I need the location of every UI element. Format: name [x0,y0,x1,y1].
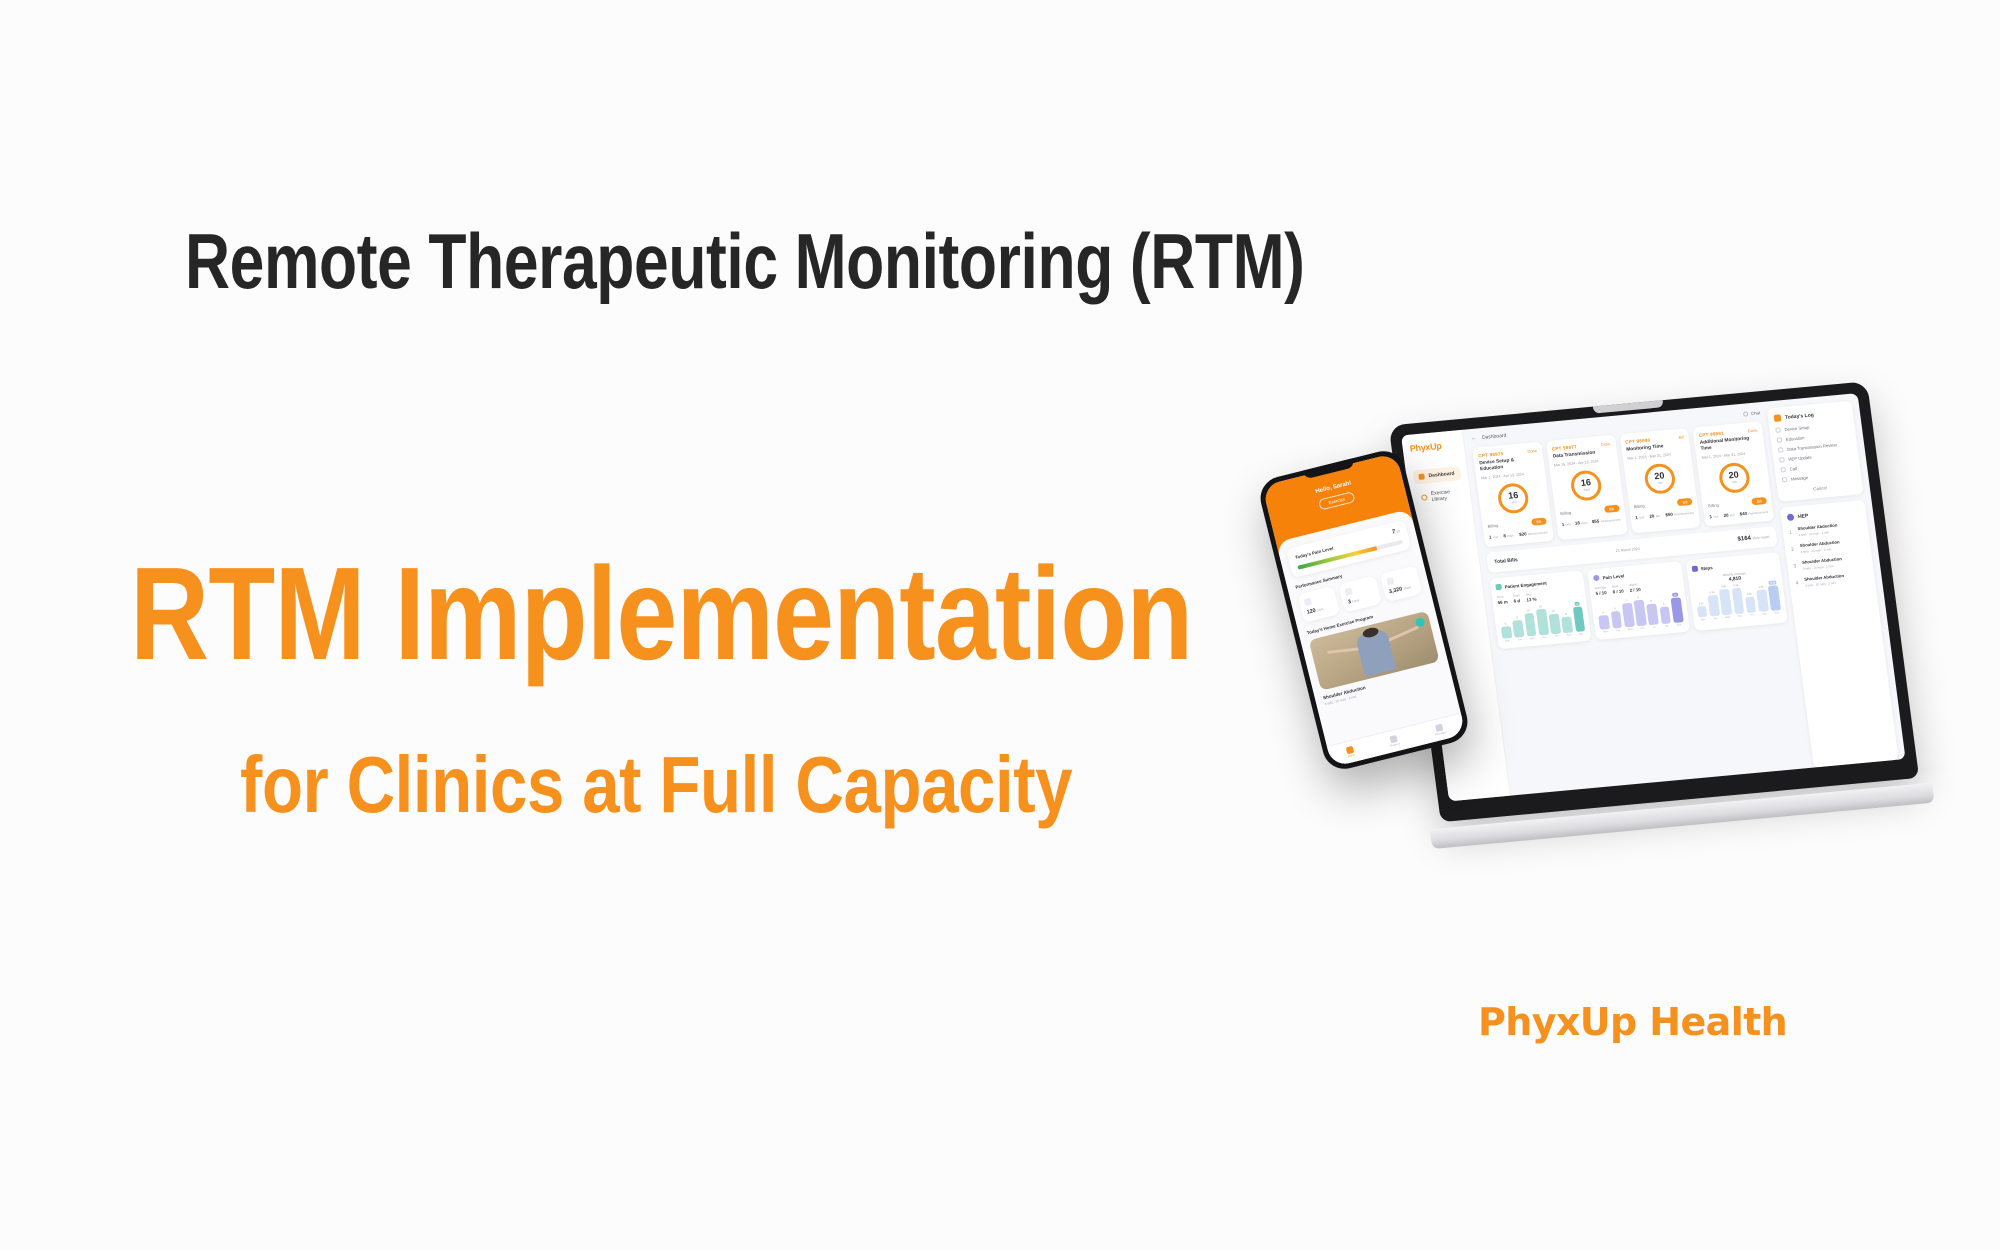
chart-bar-label: Tue [1616,629,1620,632]
hep-row-meta: 3 sets · 10 reps · 2 min [1800,547,1831,554]
chart-bar-label: Mon [1505,639,1510,642]
chart-bar-value: 8 [1504,623,1506,626]
hep-row[interactable]: 2 Shoulder Abduction 3 sets · 10 reps · … [1791,537,1865,556]
cpt-stat-label: Days [1507,534,1514,539]
hep-row[interactable]: 1 Shoulder Abduction 3 sets · 10 reps · … [1788,520,1862,539]
cpt-stat: $20 Reimbursement [1519,529,1548,538]
laptop-lid: PhyxUp Dashboard Exercise Library [1389,381,1920,822]
chart-bar-label: Wed [1627,628,1632,631]
hep-row-body: Shoulder Abduction 3 sets · 10 reps · 2 … [1804,571,1869,589]
cancel-button[interactable]: Cancel [1783,483,1856,495]
tab-label: Progress [1390,743,1401,748]
chart-bar-value: 7 [1625,599,1627,602]
laptop-mockup: PhyxUp Dashboard Exercise Library [1389,381,1920,822]
location-icon [1421,494,1428,501]
chart-bar-value: 6 [1650,600,1652,603]
chart-bar-label: Sat [1567,634,1571,637]
cpt-stat-label: Min [1655,514,1660,518]
cpt-stat-value: $40 [1739,511,1747,517]
chart-bar-value: 4.3k [1709,591,1714,594]
chart-stat-value: 8 / 10 [1612,589,1624,595]
cpt-stat-value: 1 [1489,535,1492,540]
sidebar-item-label: Exercise Library [1431,488,1459,502]
chart-bars: 2.1kMon4.3kTue5.6kWed5.9kThu3.2kFri4.4kS… [1694,580,1781,621]
chart-bar [1501,626,1512,638]
cpt-stat-value: 20 [1723,513,1729,518]
performance-metric-number: 3,320 [1388,586,1403,595]
chart-bar-label: Sun [1774,611,1779,614]
hep-row-body: Shoulder Abduction 3 sets · 10 reps · 2 … [1799,537,1864,555]
chart-bar [1707,595,1719,617]
cpt-stat: 16 Days [1575,520,1588,527]
chart-bar [1659,606,1671,624]
log-item-label: Education [1786,435,1805,442]
cpt-code: CPT 98980 [1625,437,1651,444]
chart-bar-label: Sun [1677,623,1682,626]
chart-stat: Time 56 m [1497,593,1509,606]
chart-bar [1768,585,1781,610]
chart-bar-value: 16 [1527,609,1530,612]
chart-bar-badge: 6.5k [1768,580,1776,585]
hep-row-name: Shoulder Abduction [1797,523,1837,532]
todays-log-header: Today's Log [1774,408,1848,422]
chart-stat-value: 2 / 10 [1629,587,1641,593]
log-item-label: Message [1791,475,1809,482]
checkbox-icon[interactable] [1780,467,1786,472]
cpt-stats: 1 Unit 8 Days $20 [1489,529,1548,540]
chart-stat-label: Best [1612,584,1619,589]
cpt-code: CPT 98981 [1699,431,1725,438]
cpt-bill-label: Billing [1487,523,1498,529]
cpt-stat: 8 Days [1503,533,1514,540]
chart-bar-column: 6.5kSun [1768,580,1782,615]
chart-bar-label: Tue [1518,638,1522,641]
chart-bar-label: Mon [1701,618,1706,621]
chart-bar-column: 21Sun [1572,602,1586,637]
hep-row-meta: 3 sets · 10 reps · 2 min [1805,581,1836,588]
cpt-stat-value: 16 [1575,520,1581,525]
chart-bar-badge: 21 [1574,602,1580,607]
engagement-icon [1495,584,1502,591]
checkbox-icon[interactable] [1775,427,1781,432]
cpt-bill-label: Billing [1708,502,1719,508]
device-mockup-group: PhyxUp Dashboard Exercise Library [1290,400,1990,940]
chart-bar-label: Fri [1555,635,1558,638]
log-icon [1774,414,1782,422]
chart-bar-value: 4.4k [1758,586,1763,589]
cpt-gauge-unit: days [1583,488,1590,493]
log-item-label: Data Transmission Review [1787,442,1837,452]
back-arrow-icon[interactable]: ← [1471,436,1478,443]
grid-icon [1418,473,1425,480]
steps-icon [1386,577,1394,585]
sidebar-item-exercise-library[interactable]: Exercise Library [1415,484,1464,508]
chart-stat-value: 6 d [1513,598,1520,604]
cpt-stat: $50 Reimbursement [1665,510,1694,519]
chart-card-steps: Steps Weekly Average 4,810 2.1kMon4.3kTu… [1685,552,1787,631]
cpt-card[interactable]: CPT 98975 Done Device Setup & Education … [1472,442,1554,548]
hep-panel-title: HEP [1798,513,1809,520]
pain-icon [1593,575,1600,582]
pain-level-value: 7/10 [1392,528,1401,536]
hep-row-index: 2 [1791,546,1797,552]
video-arm-left [1327,647,1360,653]
cpt-card[interactable]: CPT 98980 Bill Monitoring Time Mar 1, 20… [1619,428,1701,534]
chat-label: Chat [1750,410,1760,416]
page-title: RTM Implementation [130,548,1192,680]
chart-bar-value: 5.6k [1721,585,1726,588]
chart-title: Pain Level [1602,573,1624,580]
chart-stat: Best 8 / 10 [1612,583,1625,596]
chart-bar-label: Thu [1542,636,1547,639]
chat-button[interactable]: Chat [1743,410,1761,417]
chart-title: Steps [1700,565,1713,571]
chat-icon [1743,411,1749,416]
hep-row-body: Shoulder Abduction 3 sets · 10 reps · 2 … [1802,554,1867,572]
chart-bar [1697,606,1708,617]
chart-bar-value: 5.9k [1733,584,1738,587]
cpt-stat: 1 Unit [1489,534,1499,541]
cpt-stat-label: Reimbursement [1528,530,1548,536]
chart-bar-value: 9 [1637,596,1639,599]
chart-bar [1512,620,1524,638]
performance-metric-value: 120 mins [1306,603,1334,615]
tab-label: Home [1348,754,1355,759]
cpt-bill-row: Billing Bill [1633,498,1692,511]
cpt-code: CPT 98977 [1552,444,1578,451]
steps-icon [1691,566,1698,573]
chart-bar-column: 10Sun [1670,592,1684,627]
performance-metric-unit: mins [1317,607,1324,612]
topbar-actions: Chat [1743,410,1761,417]
cpt-stats: 1 Unit 16 Days $55 [1561,517,1620,528]
cpt-stat-label: Unit [1639,516,1644,520]
chart-bar-label: Sun [1579,633,1584,636]
cpt-stat-label: Min [1730,513,1735,517]
chart-bar-value: 5 [1614,607,1616,610]
sidebar-logo: PhyxUp [1409,439,1457,453]
checkbox-icon[interactable] [1777,437,1783,442]
cpt-bill-button[interactable]: Bill [1751,497,1767,505]
pain-level-scale: /10 [1395,529,1400,534]
chart-bar [1536,609,1549,635]
cpt-gauge: 20 min [1717,462,1751,495]
chart-bar-label: Tue [1713,617,1717,620]
cpt-stat-label: Unit [1493,535,1498,539]
todays-log-title: Today's Log [1785,412,1815,421]
chart-stat-label: Days [1513,593,1520,598]
chart-bar-label: Thu [1640,627,1645,630]
chart-stat-label: Worst [1629,582,1637,587]
cpt-stat: 1 Unit [1635,515,1645,522]
page-kicker: Remote Therapeutic Monitoring (RTM) [185,222,1305,300]
chart-card-patient-engagement: Patient Engagement Time 56 m Days [1490,570,1592,649]
tab-home[interactable]: Home [1346,746,1356,759]
tab-progress[interactable]: Progress [1388,734,1401,748]
chart-bar-label: Wed [1725,616,1730,619]
chart-bar-label: Thu [1738,615,1743,618]
chart-bar [1622,603,1635,627]
cpt-stat: $40 Reimbursement [1739,509,1768,518]
sidebar-item-dashboard[interactable]: Dashboard [1413,466,1462,484]
cpt-bill-label: Billing [1634,503,1645,509]
chart-bar-value: 14 [1552,610,1555,613]
performance-metric-unit: Steps [1403,585,1411,591]
hep-row-index: 1 [1789,530,1795,536]
log-item-label: Device Setup [1784,425,1809,432]
cpt-stat-value: $55 [1592,519,1600,525]
hep-row-name: Shoulder Abduction [1804,573,1844,582]
chart-bar [1745,597,1757,613]
performance-metric: 3,320 Steps [1379,565,1422,602]
hep-panel-header: HEP [1787,507,1861,521]
total-bills-note[interactable]: View report [1752,535,1770,541]
hep-row-name: Shoulder Abduction [1802,556,1842,565]
cpt-gauge-unit: min [1732,480,1737,484]
dashboard-app: PhyxUp Dashboard Exercise Library [1401,393,1906,801]
chart-bar-label: Fri [1751,614,1754,617]
cpt-stat-value: 1 [1709,514,1712,519]
cpt-stat-value: 1 [1561,522,1564,527]
slide-root: Remote Therapeutic Monitoring (RTM) RTM … [0,0,2000,1250]
cpt-card-row: CPT 98975 Done Device Setup & Education … [1472,421,1774,547]
performance-metric-number: 120 [1306,608,1316,616]
chart-bar-label: Mon [1603,630,1608,633]
cpt-stat: $55 Reimbursement [1592,517,1621,526]
chart-bar [1610,611,1622,629]
hep-row-meta: 3 sets · 10 reps · 2 min [1803,564,1834,571]
cpt-card[interactable]: CPT 98981 Done Additional Monitoring Tim… [1693,421,1775,527]
cpt-bill-button[interactable]: Bill [1604,505,1620,513]
chart-stat-value: 56 m [1497,599,1508,605]
total-bills-daterange[interactable]: 21 March 2024 [1616,547,1640,553]
cpt-stat: 20 Min [1723,512,1735,519]
chart-bar [1573,607,1586,632]
checkbox-icon[interactable] [1779,457,1785,462]
performance-metric-value: 3 Days [1347,593,1375,605]
performance-metric-value: 3,320 Steps [1388,583,1416,595]
hep-row-meta: 3 sets · 10 reps · 2 min [1798,530,1829,537]
cpt-stat-value: 20 [1649,514,1655,519]
total-bills-title: Total Bills [1494,557,1518,565]
total-bills-amount-wrap: $164 View report [1737,534,1770,543]
chart-stat-label: Avg [1525,592,1531,596]
chart-stat: Average 5 / 10 [1595,584,1608,597]
chart-bar [1719,589,1732,615]
cpt-stat-label: Unit [1713,515,1718,519]
cpt-stat-value: 8 [1503,533,1506,538]
cpt-bill-button[interactable]: Bill [1677,498,1693,506]
chart-stat: Days 6 d [1513,592,1521,605]
chart-bar [1562,616,1574,632]
tab-messages[interactable]: Messages [1433,723,1447,737]
chart-bar-badge: 10 [1672,593,1678,598]
hep-row-index: 3 [1793,563,1799,569]
log-item-label: Call [1789,466,1797,472]
cpt-stat-value: $50 [1665,512,1673,518]
cpt-bill-label: Billing [1560,510,1571,516]
chart-bar [1599,615,1610,629]
chart-bar-label: Fri [1653,626,1656,629]
chart-card-pain-level: Pain Level Average 5 / 10 Best [1588,561,1690,640]
hep-icon [1787,513,1795,521]
cpt-stat-label: Days [1581,521,1588,526]
cpt-stat-value: $20 [1519,531,1527,537]
chart-stat-label: Time [1497,595,1504,600]
chart-bar-label: Sat [1665,625,1669,628]
performance-metric: 3 Days [1338,575,1381,612]
cpt-bill-button[interactable]: Bill [1531,517,1547,525]
log-item-label: HEP Update [1788,455,1812,462]
chart-bar-value: 5 [1663,602,1665,605]
clock-icon [1304,598,1312,606]
cpt-stat-label: Reimbursement [1674,511,1694,517]
chart-bars: 4Mon5Tue7Wed9Thu6Fri5Sat10Sun [1597,592,1684,633]
checkbox-icon[interactable] [1782,477,1788,482]
cpt-stat-label: Reimbursement [1748,510,1768,516]
cpt-stat-label: Unit [1565,522,1570,526]
page-subtitle: for Clinics at Full Capacity [240,745,1072,825]
chart-stat: Worst 2 / 10 [1629,581,1642,594]
cpt-bill-row: Billing Bill [1560,505,1619,518]
chart-bar-label: Wed [1529,637,1534,640]
cpt-status: Done [1748,428,1758,434]
chart-stat-value: 5 / 10 [1595,590,1607,596]
chart-bar-value: 12 [1515,616,1518,619]
breadcrumb: Dashboard [1482,433,1507,441]
cpt-gauge-unit: min [1511,501,1516,505]
chart-bar-value: 11 [1565,613,1568,616]
laptop-screen: PhyxUp Dashboard Exercise Library [1401,393,1906,801]
checkbox-icon[interactable] [1778,447,1784,452]
chart-stat: Avg 13 % [1525,591,1537,604]
hep-row[interactable]: 4 Shoulder Abduction 3 sets · 10 reps · … [1795,571,1869,590]
chart-bar-value: 2.1k [1698,603,1703,606]
cpt-bill-row: Billing Bill [1487,517,1546,530]
cpt-gauge: 16 days [1569,469,1603,502]
cpt-card[interactable]: CPT 98977 Done Data Transmission Mar 15,… [1546,435,1628,541]
chart-bar [1731,588,1744,614]
chart-bar [1524,613,1537,636]
exercise-button[interactable]: Exercise [1318,491,1356,511]
chart-bar-value: 3.2k [1747,593,1752,596]
chart-bar-value: 4 [1602,611,1604,614]
cpt-gauge-unit: min [1658,481,1663,485]
brand-logo-text: PhyxUp Health [1478,1000,1787,1044]
chart-bar [1634,600,1647,626]
cpt-stats: 1 Unit 20 Min $50 [1635,510,1694,521]
chart-bar-value: 19 [1539,605,1542,608]
chart-title: Patient Engagement [1504,580,1547,589]
hep-row[interactable]: 3 Shoulder Abduction 3 sets · 10 reps · … [1793,554,1867,573]
total-bills-amount: $164 [1737,536,1751,543]
cpt-code: CPT 98975 [1478,451,1504,458]
chart-bar-label: Sat [1762,613,1766,616]
video-arm-right [1388,625,1419,641]
hep-row-index: 4 [1795,580,1801,586]
performance-metric: 120 mins [1297,586,1340,623]
chart-bar [1671,597,1684,622]
log-item[interactable]: Message [1782,471,1855,483]
chart-bars: 8Mon12Tue16Wed19Thu14Fri11Sat21Sun [1499,602,1586,643]
sidebar-item-label: Dashboard [1428,471,1455,479]
hep-row-name: Shoulder Abduction [1799,539,1839,548]
chart-stat-value: 13 % [1526,597,1537,603]
cpt-status: Done [1601,441,1611,447]
chart-bar [1549,613,1561,634]
cpt-status: Done [1527,448,1537,454]
dashboard-main: ← Dashboard Chat [1463,402,1814,796]
chart-bar [1756,590,1768,612]
cpt-stat-label: Reimbursement [1600,518,1620,524]
cpt-stat: 1 Unit [1709,514,1719,521]
cpt-gauge: 16 min [1497,482,1531,515]
cpt-stats: 1 Unit 20 Min $40 [1709,509,1768,520]
calendar-icon [1345,587,1353,595]
hep-row-body: Shoulder Abduction 3 sets · 10 reps · 2 … [1797,520,1862,538]
chart-bar [1647,604,1659,625]
performance-metric-unit: Days [1352,598,1360,604]
cpt-stat: 1 Unit [1561,521,1571,528]
cpt-status: Bill [1678,434,1684,439]
cpt-stat: 20 Min [1649,513,1661,520]
cpt-bill-row: Billing Bill [1708,497,1767,510]
todays-log-card: Today's Log Device Setup Education [1767,401,1864,502]
video-person-body [1355,628,1396,676]
tab-label: Messages [1435,731,1447,737]
cpt-gauge: 20 min [1643,462,1677,495]
